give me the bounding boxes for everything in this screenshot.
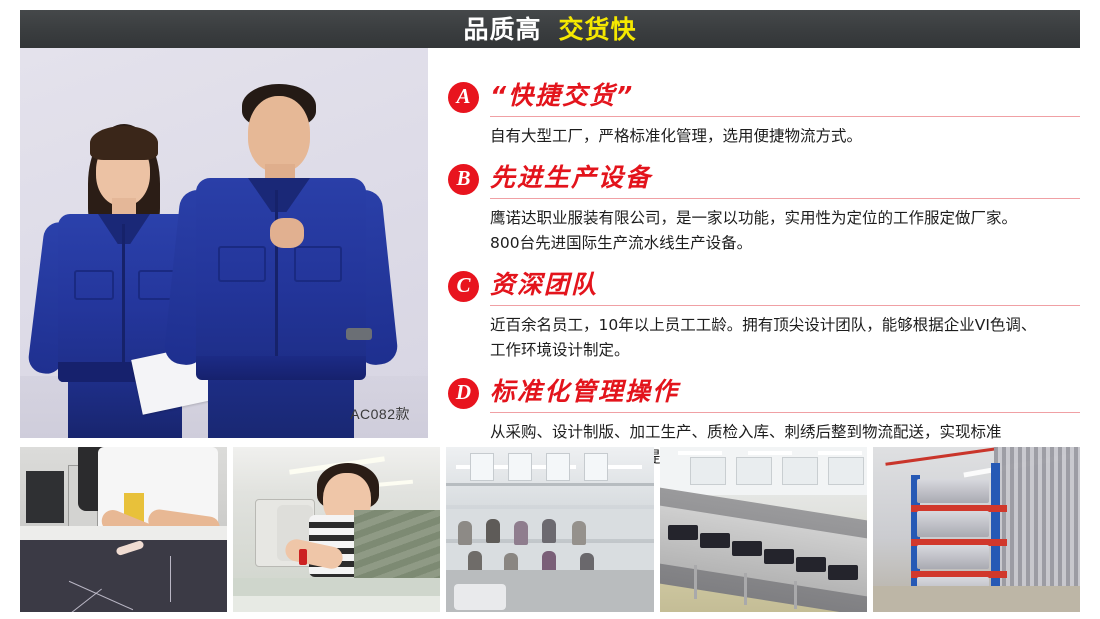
fringe-shape bbox=[90, 126, 158, 160]
thumbnail-factory-floor bbox=[446, 447, 653, 612]
hero-section: AC082款 A “快捷交货” 自有大型工厂，严格标准化管理，选用便捷物流方式。… bbox=[20, 48, 1080, 438]
feature-heading: B 先进生产设备 bbox=[448, 162, 1080, 200]
garment-pile-shape bbox=[454, 584, 506, 610]
fabric-stack-shape bbox=[354, 510, 440, 584]
ceiling-beam-shape bbox=[446, 483, 653, 486]
feature-item-b: B 先进生产设备 鹰诺达职业服装有限公司，是一家以功能，实用性为定位的工作服定做… bbox=[448, 162, 1080, 256]
feature-body: 鹰诺达职业服装有限公司，是一家以功能，实用性为定位的工作服定做厂家。 800台先… bbox=[490, 200, 1080, 256]
window-shape bbox=[546, 453, 570, 481]
jacket-placket bbox=[275, 190, 278, 375]
model-male bbox=[170, 78, 420, 438]
feature-divider bbox=[490, 305, 1080, 306]
worker-shape bbox=[572, 521, 586, 545]
worker-shape bbox=[486, 519, 500, 543]
red-bracelet-shape bbox=[299, 549, 307, 565]
worker-shape bbox=[514, 521, 528, 545]
feature-title: “快捷交货” bbox=[490, 78, 634, 114]
garment-panel-shape bbox=[700, 533, 730, 548]
conveyor-leg-shape bbox=[794, 581, 797, 609]
feature-item-a: A “快捷交货” 自有大型工厂，严格标准化管理，选用便捷物流方式。 bbox=[448, 80, 1080, 149]
feature-title: 标准化管理操作 bbox=[490, 374, 679, 410]
badge-letter-c: C bbox=[448, 271, 479, 302]
window-shape bbox=[828, 457, 864, 485]
feature-heading: D 标准化管理操作 bbox=[448, 376, 1080, 414]
thumbnail-conveyor-line bbox=[660, 447, 867, 612]
feature-title: 先进生产设备 bbox=[490, 160, 652, 196]
packed-goods-shape bbox=[917, 511, 989, 537]
jacket-placket bbox=[122, 224, 125, 379]
product-code-label: AC082款 bbox=[350, 404, 410, 424]
feature-body: 近百余名员工，10年以上员工工龄。拥有顶尖设计团队，能够根据企业VI色调、 工作… bbox=[490, 307, 1080, 363]
feature-body-line: 工作环境设计制定。 bbox=[490, 338, 1080, 363]
worker-shape bbox=[458, 521, 472, 545]
jacket-pocket-left bbox=[74, 270, 114, 300]
window-shape bbox=[690, 457, 726, 485]
garment-panel-shape bbox=[796, 557, 826, 572]
jacket-pocket-left bbox=[218, 246, 266, 282]
floor-shape bbox=[873, 586, 1080, 612]
model-photo: AC082款 bbox=[20, 48, 428, 438]
feature-list: A “快捷交货” 自有大型工厂，严格标准化管理，选用便捷物流方式。 B 先进生产… bbox=[448, 48, 1080, 438]
garment-panel-shape bbox=[828, 565, 858, 580]
conveyor-leg-shape bbox=[744, 573, 747, 605]
thumbnail-warehouse-racks bbox=[873, 447, 1080, 612]
product-detail-banner: 品质高 交货快 bbox=[0, 0, 1100, 619]
hand-shape bbox=[270, 218, 304, 248]
monitor-shape bbox=[26, 471, 64, 523]
feature-divider bbox=[490, 412, 1080, 413]
jacket-pocket-right bbox=[294, 246, 342, 282]
header-title-accent: 交货快 bbox=[559, 17, 637, 42]
pattern-line bbox=[170, 556, 171, 602]
feature-body-line: 鹰诺达职业服装有限公司，是一家以功能，实用性为定位的工作服定做厂家。 bbox=[490, 206, 1080, 231]
feature-body-line: 近百余名员工，10年以上员工工龄。拥有顶尖设计团队，能够根据企业VI色调、 bbox=[490, 313, 1080, 338]
wristwatch-shape bbox=[346, 328, 372, 340]
feature-heading: A “快捷交货” bbox=[448, 80, 1080, 118]
thumbnail-sewing-station bbox=[233, 447, 440, 612]
feature-body: 自有大型工厂，严格标准化管理，选用便捷物流方式。 bbox=[490, 118, 1080, 149]
window-shape bbox=[508, 453, 532, 481]
window-shape bbox=[782, 457, 818, 485]
feature-divider bbox=[490, 198, 1080, 199]
head-shape bbox=[248, 96, 310, 172]
garment-panel-shape bbox=[668, 525, 698, 540]
badge-letter-a: A bbox=[448, 82, 479, 113]
light-tube-shape bbox=[678, 451, 722, 455]
feature-body-line: 自有大型工厂，严格标准化管理，选用便捷物流方式。 bbox=[490, 124, 1080, 149]
window-shape bbox=[584, 453, 608, 481]
feature-heading: C 资深团队 bbox=[448, 269, 1080, 307]
window-shape bbox=[736, 457, 772, 485]
light-tube-shape bbox=[818, 451, 862, 455]
badge-letter-d: D bbox=[448, 378, 479, 409]
table-edge-shape bbox=[233, 596, 440, 612]
garment-panel-shape bbox=[764, 549, 794, 564]
light-tube-shape bbox=[748, 451, 792, 455]
packed-goods-shape bbox=[917, 545, 989, 569]
feature-body-line: 从采购、设计制版、加工生产、质检入库、刺绣后整到物流配送，实现标准 bbox=[490, 420, 1080, 445]
badge-letter-b: B bbox=[448, 164, 479, 195]
jacket-waistband bbox=[196, 356, 366, 380]
legs-shape bbox=[208, 378, 354, 438]
garment-panel-shape bbox=[732, 541, 762, 556]
header-title-primary: 品质高 bbox=[463, 17, 541, 42]
red-beam-shape bbox=[885, 447, 996, 466]
window-shape bbox=[470, 453, 494, 481]
packed-goods-shape bbox=[917, 479, 989, 503]
feature-body-line: 800台先进国际生产流水线生产设备。 bbox=[490, 231, 1080, 256]
header-banner: 品质高 交货快 bbox=[20, 10, 1080, 48]
worker-shape bbox=[542, 519, 556, 543]
thumbnail-cutting-room bbox=[20, 447, 227, 612]
factory-photo-strip bbox=[20, 447, 1080, 612]
conveyor-leg-shape bbox=[694, 565, 697, 599]
feature-title: 资深团队 bbox=[490, 267, 598, 303]
feature-divider bbox=[490, 116, 1080, 117]
feature-item-c: C 资深团队 近百余名员工，10年以上员工工龄。拥有顶尖设计团队，能够根据企业V… bbox=[448, 269, 1080, 363]
